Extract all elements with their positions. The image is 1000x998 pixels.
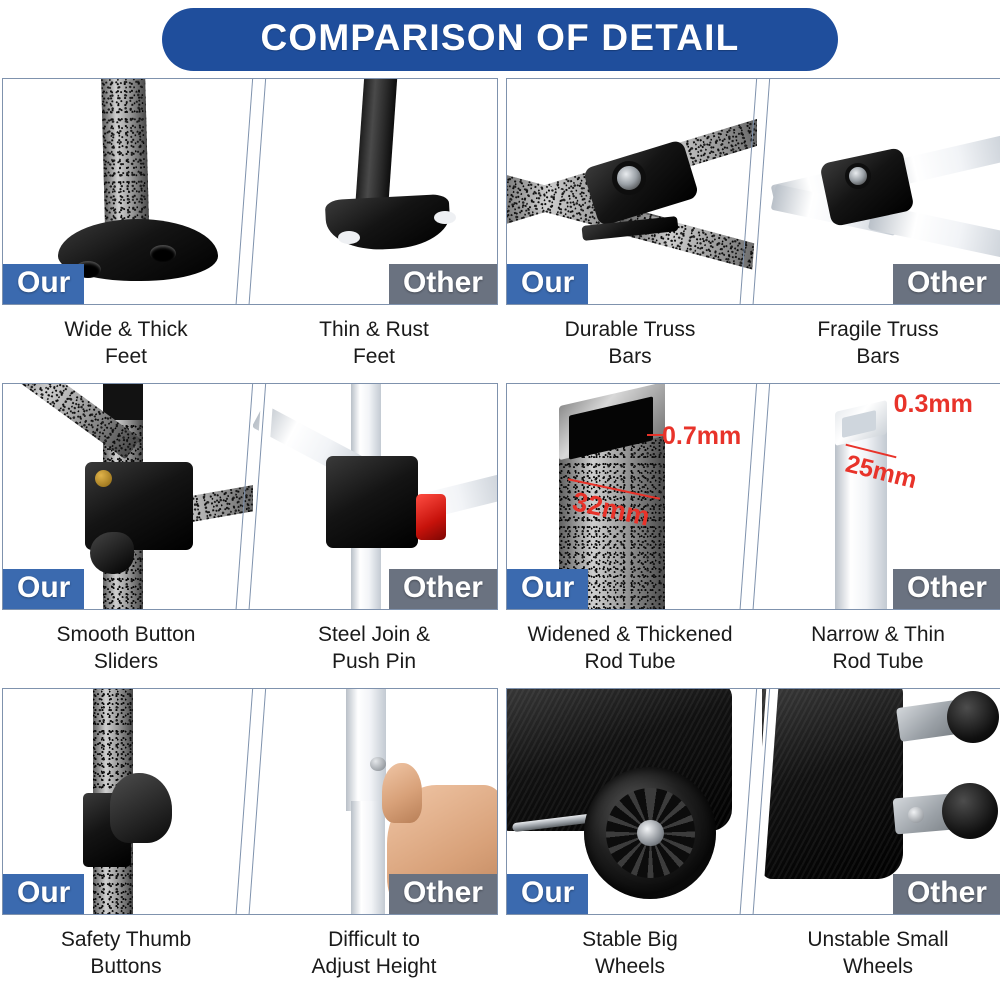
caption-line: Buttons (2, 954, 250, 981)
dimension-arrow (647, 434, 665, 436)
tent-leg-pole-speckled (101, 79, 149, 226)
feet-other-image: Other (253, 79, 497, 304)
panel-truss-image: Our Other (506, 78, 1000, 305)
badge-other: Other (893, 264, 1000, 305)
caption-other: Steel Join & Push Pin (250, 622, 498, 676)
badge-our: Our (507, 874, 588, 915)
spring-pin-icon (370, 757, 386, 771)
caption-line: Adjust Height (250, 954, 498, 981)
finger (382, 763, 422, 823)
panel-feet-captions: Wide & Thick Feet Thin & Rust Feet (2, 305, 498, 371)
small-caster-wheel (947, 691, 999, 743)
panel-rod-tube-image: 0.7mm 32mm Our 0.3mm 25mm (506, 383, 1000, 610)
lower-pole-white (351, 801, 385, 914)
caption-our: Widened & Thickened Rod Tube (506, 622, 754, 676)
caption-line: Wide & Thick (2, 317, 250, 344)
panel-rod-tube-captions: Widened & Thickened Rod Tube Narrow & Th… (506, 610, 1000, 676)
caption-line: Bars (506, 344, 754, 371)
caption-line: Thin & Rust (250, 317, 498, 344)
truss-other-image: Other (757, 79, 1000, 304)
caption-line: Difficult to (250, 927, 498, 954)
comparison-infographic: COMPARISON OF DETAIL Our (0, 0, 1000, 998)
thumb-our-image: Our (3, 689, 253, 914)
panel-truss-captions: Durable Truss Bars Fragile Truss Bars (506, 305, 1000, 371)
panel-thumb-captions: Safety Thumb Buttons Difficult to Adjust… (2, 915, 498, 981)
badge-other: Other (893, 569, 1000, 610)
caption-line: Sliders (2, 649, 250, 676)
badge-other: Other (893, 874, 1000, 915)
wheel-hub (637, 820, 663, 846)
foot-bolt-hole (434, 211, 456, 224)
red-push-pin (416, 494, 446, 540)
badge-our: Our (3, 264, 84, 305)
panel-feet-image: Our Other (2, 78, 498, 305)
caption-other: Difficult to Adjust Height (250, 927, 498, 981)
caption-our: Safety Thumb Buttons (2, 927, 250, 981)
caption-other: Thin & Rust Feet (250, 317, 498, 371)
caption-line: Bars (754, 344, 1000, 371)
page-title: COMPARISON OF DETAIL (261, 17, 740, 58)
wheels-other-image: Other (757, 689, 1000, 914)
caption-line: Feet (2, 344, 250, 371)
smooth-button (90, 532, 134, 574)
badge-our: Our (507, 569, 588, 610)
caption-our: Wide & Thick Feet (2, 317, 250, 371)
caption-other: Fragile Truss Bars (754, 317, 1000, 371)
caption-line: Push Pin (250, 649, 498, 676)
caption-line: Feet (250, 344, 498, 371)
rod-tube-our-image: 0.7mm 32mm Our (507, 384, 757, 609)
caption-our: Durable Truss Bars (506, 317, 754, 371)
tent-leg-pole-black (356, 79, 398, 204)
small-caster-wheel (942, 783, 998, 839)
badge-our: Our (507, 264, 588, 305)
wheels-our-image: Our (507, 689, 757, 914)
big-wheel (584, 767, 716, 899)
clamp-rivet-icon (612, 161, 646, 195)
caption-line: Wheels (754, 954, 1000, 981)
caption-line: Widened & Thickened (506, 622, 754, 649)
caption-line: Wheels (506, 954, 754, 981)
truss-bar (616, 208, 757, 276)
panel-sliders-image: Our Other (2, 383, 498, 610)
truss-our-image: Our (507, 79, 757, 304)
sliders-other-image: Other (253, 384, 497, 609)
panel-button-sliders: Our Other Smooth Button (2, 383, 498, 688)
caption-line: Rod Tube (506, 649, 754, 676)
rod-tube-other-image: 0.3mm 25mm Other (757, 384, 1000, 609)
caption-line: Stable Big (506, 927, 754, 954)
panel-thumb-buttons: Our Other Safety Thumb B (2, 688, 498, 993)
dimension-thickness: 0.7mm (662, 422, 741, 451)
caption-line: Steel Join & (250, 622, 498, 649)
thin-rod-tube (835, 422, 887, 609)
caption-other: Narrow & Thin Rod Tube (754, 622, 1000, 676)
caption-line: Durable Truss (506, 317, 754, 344)
panel-truss-bars: Our Other Durable Tru (506, 78, 1000, 383)
caption-line: Rod Tube (754, 649, 1000, 676)
caption-line: Safety Thumb (2, 927, 250, 954)
thumb-other-image: Other (253, 689, 497, 914)
cart-fabric-bag (762, 689, 904, 879)
badge-other: Other (389, 874, 497, 915)
steel-join-hub (326, 456, 418, 548)
clamp-rivet-icon (845, 163, 871, 189)
caption-line: Unstable Small (754, 927, 1000, 954)
caption-our: Stable Big Wheels (506, 927, 754, 981)
feet-our-image: Our (3, 79, 253, 304)
panel-wheels-image: Our Other (506, 688, 1000, 915)
caption-our: Smooth Button Sliders (2, 622, 250, 676)
panel-wheels: Our Other Stable Big (506, 688, 1000, 993)
panel-rod-tube: 0.7mm 32mm Our 0.3mm 25mm (506, 383, 1000, 688)
panel-feet: Our Other Wide & Thick Feet (2, 78, 498, 383)
caption-line: Narrow & Thin (754, 622, 1000, 649)
sliders-our-image: Our (3, 384, 253, 609)
caption-other: Unstable Small Wheels (754, 927, 1000, 981)
panel-thumb-image: Our Other (2, 688, 498, 915)
upper-pole-white (346, 689, 386, 811)
badge-our: Our (3, 569, 84, 610)
thumb-lever (110, 773, 172, 843)
title-banner: COMPARISON OF DETAIL (162, 8, 838, 71)
badge-other: Other (389, 264, 497, 305)
caption-line: Fragile Truss (754, 317, 1000, 344)
panel-wheels-captions: Stable Big Wheels Unstable Small Wheels (506, 915, 1000, 981)
comparison-grid: Our Other Wide & Thick Feet (0, 78, 1000, 993)
badge-other: Other (389, 569, 497, 610)
badge-our: Our (3, 874, 84, 915)
header: COMPARISON OF DETAIL (0, 0, 1000, 78)
dimension-thickness: 0.3mm (894, 390, 973, 419)
caption-line: Smooth Button (2, 622, 250, 649)
panel-sliders-captions: Smooth Button Sliders Steel Join & Push … (2, 610, 498, 676)
